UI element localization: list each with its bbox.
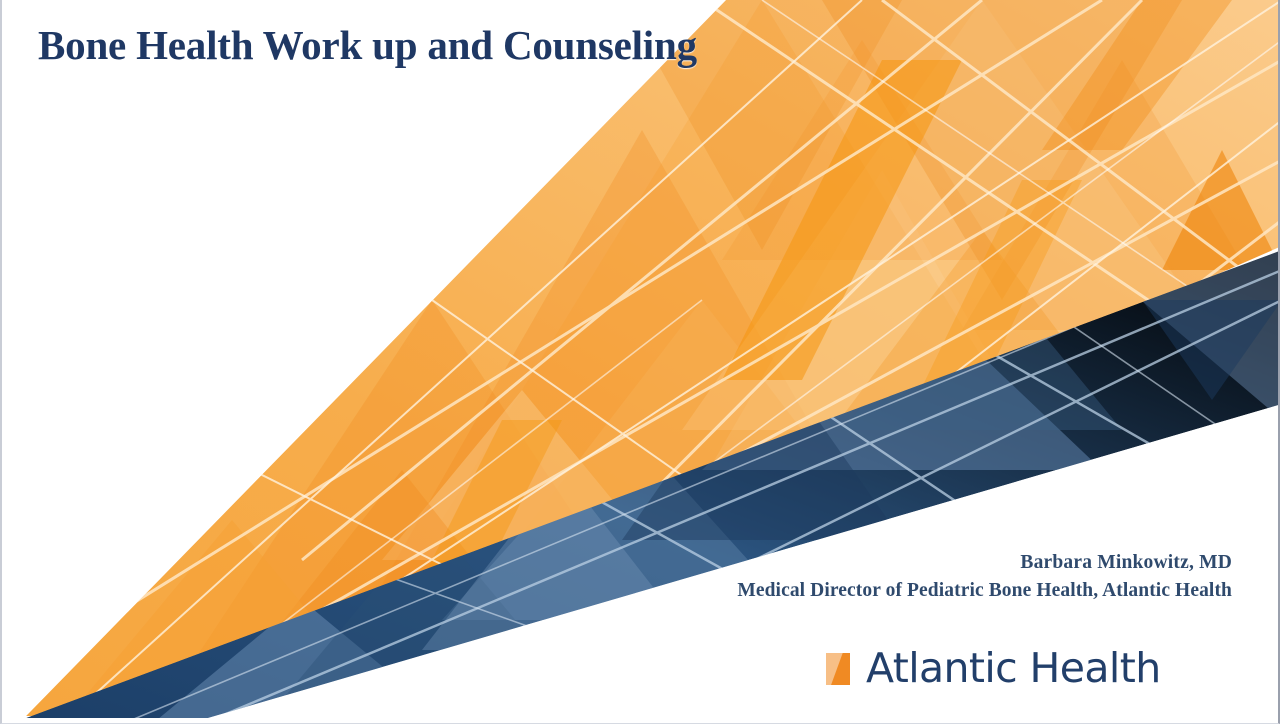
presenter-role: Medical Director of Pediatric Bone Healt… xyxy=(737,577,1232,605)
atlantic-health-wordmark: Atlantic Health xyxy=(866,648,1161,689)
page-title: Bone Health Work up and Counseling xyxy=(38,24,697,67)
presenter-name: Barbara Minkowitz, MD xyxy=(737,549,1232,577)
decorative-fan-graphic xyxy=(2,0,1280,724)
atlantic-health-logo: Atlantic Health xyxy=(826,648,1161,689)
byline: Barbara Minkowitz, MD Medical Director o… xyxy=(737,549,1232,606)
atlantic-health-mark-icon xyxy=(826,653,850,685)
presentation-slide: Bone Health Work up and Counseling Barba… xyxy=(0,0,1280,724)
